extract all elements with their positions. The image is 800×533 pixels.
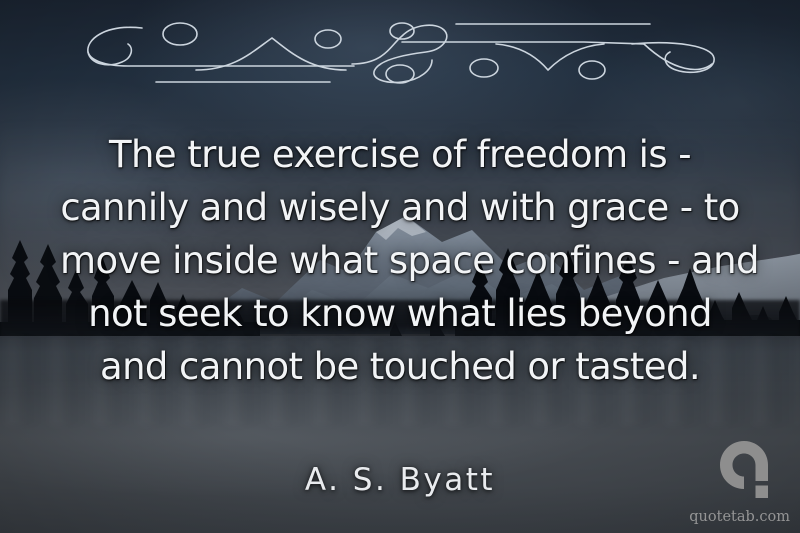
quote-line: cannily and wisely and with grace - to [60, 181, 740, 234]
watermark[interactable]: quotetab.com [692, 437, 794, 529]
quote-line: move inside what space confines - and [60, 234, 740, 287]
quotetab-logo-icon[interactable] [720, 441, 776, 501]
quote-line: The true exercise of freedom is - [60, 128, 740, 181]
flourish-divider-icon [84, 12, 716, 84]
quote-line: and cannot be touched or tasted. [60, 340, 740, 393]
quote-card: The true exercise of freedom is - cannil… [0, 0, 800, 533]
watermark-site-label[interactable]: quotetab.com [688, 509, 790, 525]
card-content: The true exercise of freedom is - cannil… [0, 0, 800, 533]
quote-line: not seek to know what lies beyond [60, 287, 740, 340]
quote-text: The true exercise of freedom is - cannil… [60, 128, 740, 393]
author-name: A. S. Byatt [0, 462, 800, 498]
